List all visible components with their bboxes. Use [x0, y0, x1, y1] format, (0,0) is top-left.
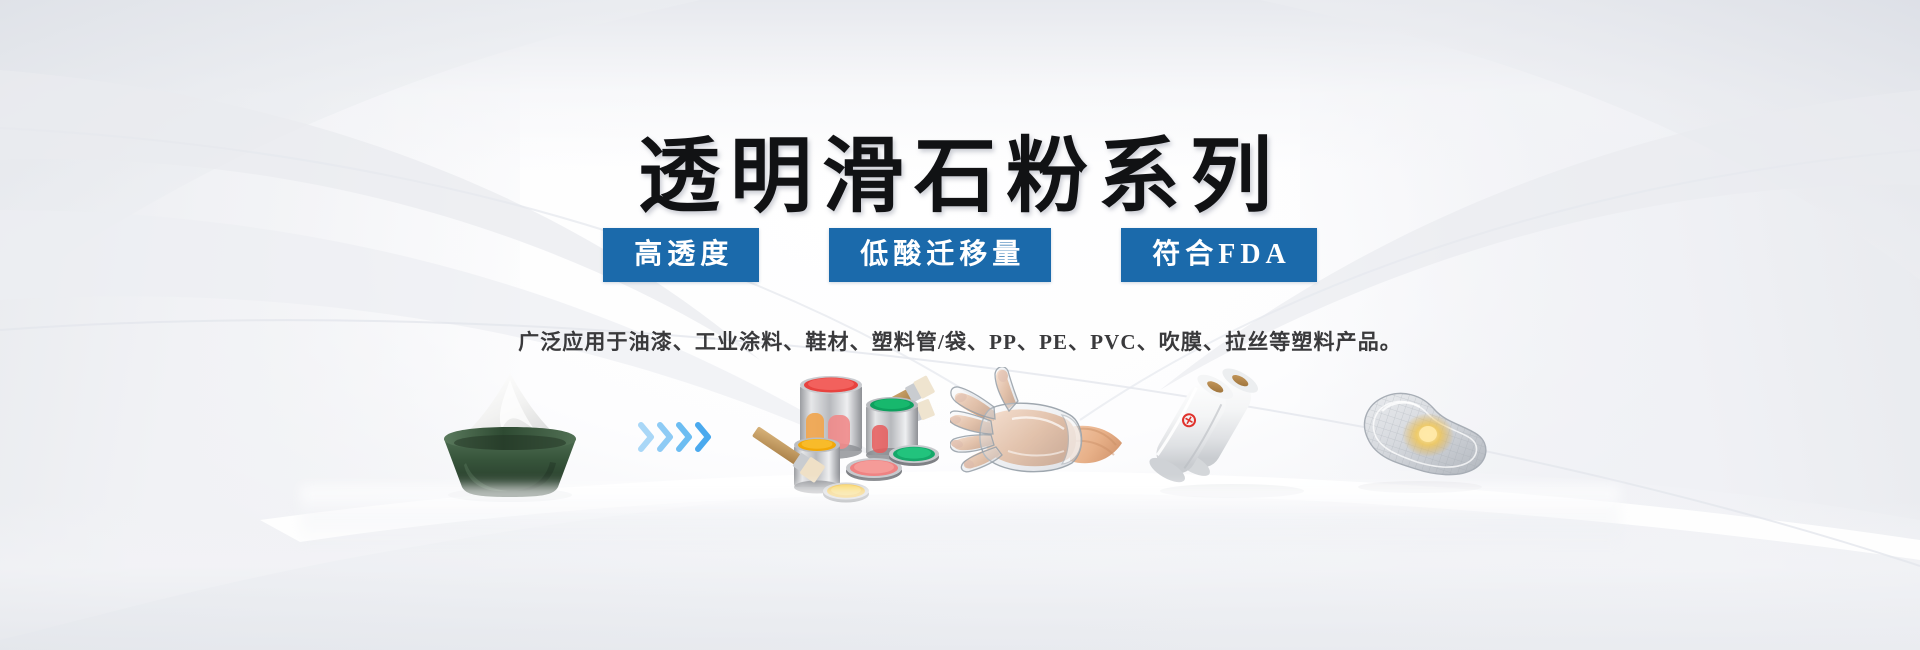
badge-high-transparency[interactable]: 高透度	[603, 228, 759, 282]
page-title: 透明滑石粉系列	[638, 133, 1282, 222]
badge-low-acid-migration[interactable]: 低酸迁移量	[829, 228, 1051, 282]
plastic-film-rolls	[1135, 367, 1325, 507]
chevron-right-icon	[676, 422, 693, 452]
feature-badge-list: 高透度 低酸迁移量 符合FDA	[0, 228, 1920, 282]
chevron-right-icon	[695, 422, 712, 452]
shoe-sole	[1325, 367, 1515, 507]
plastic-glove-hand	[945, 367, 1135, 507]
background-bottom-wash	[0, 500, 1920, 650]
chevron-right-icon	[657, 422, 674, 452]
process-arrows	[615, 367, 735, 507]
talc-powder-bowl	[405, 367, 615, 507]
paint-cans	[735, 367, 945, 507]
product-banner: 透明滑石粉系列 高透度 低酸迁移量 符合FDA 广泛应用于油漆、工业涂料、鞋材、…	[0, 0, 1920, 650]
badge-fda-compliant[interactable]: 符合FDA	[1121, 228, 1317, 282]
product-image-strip	[0, 352, 1920, 522]
chevron-right-icon	[638, 422, 655, 452]
